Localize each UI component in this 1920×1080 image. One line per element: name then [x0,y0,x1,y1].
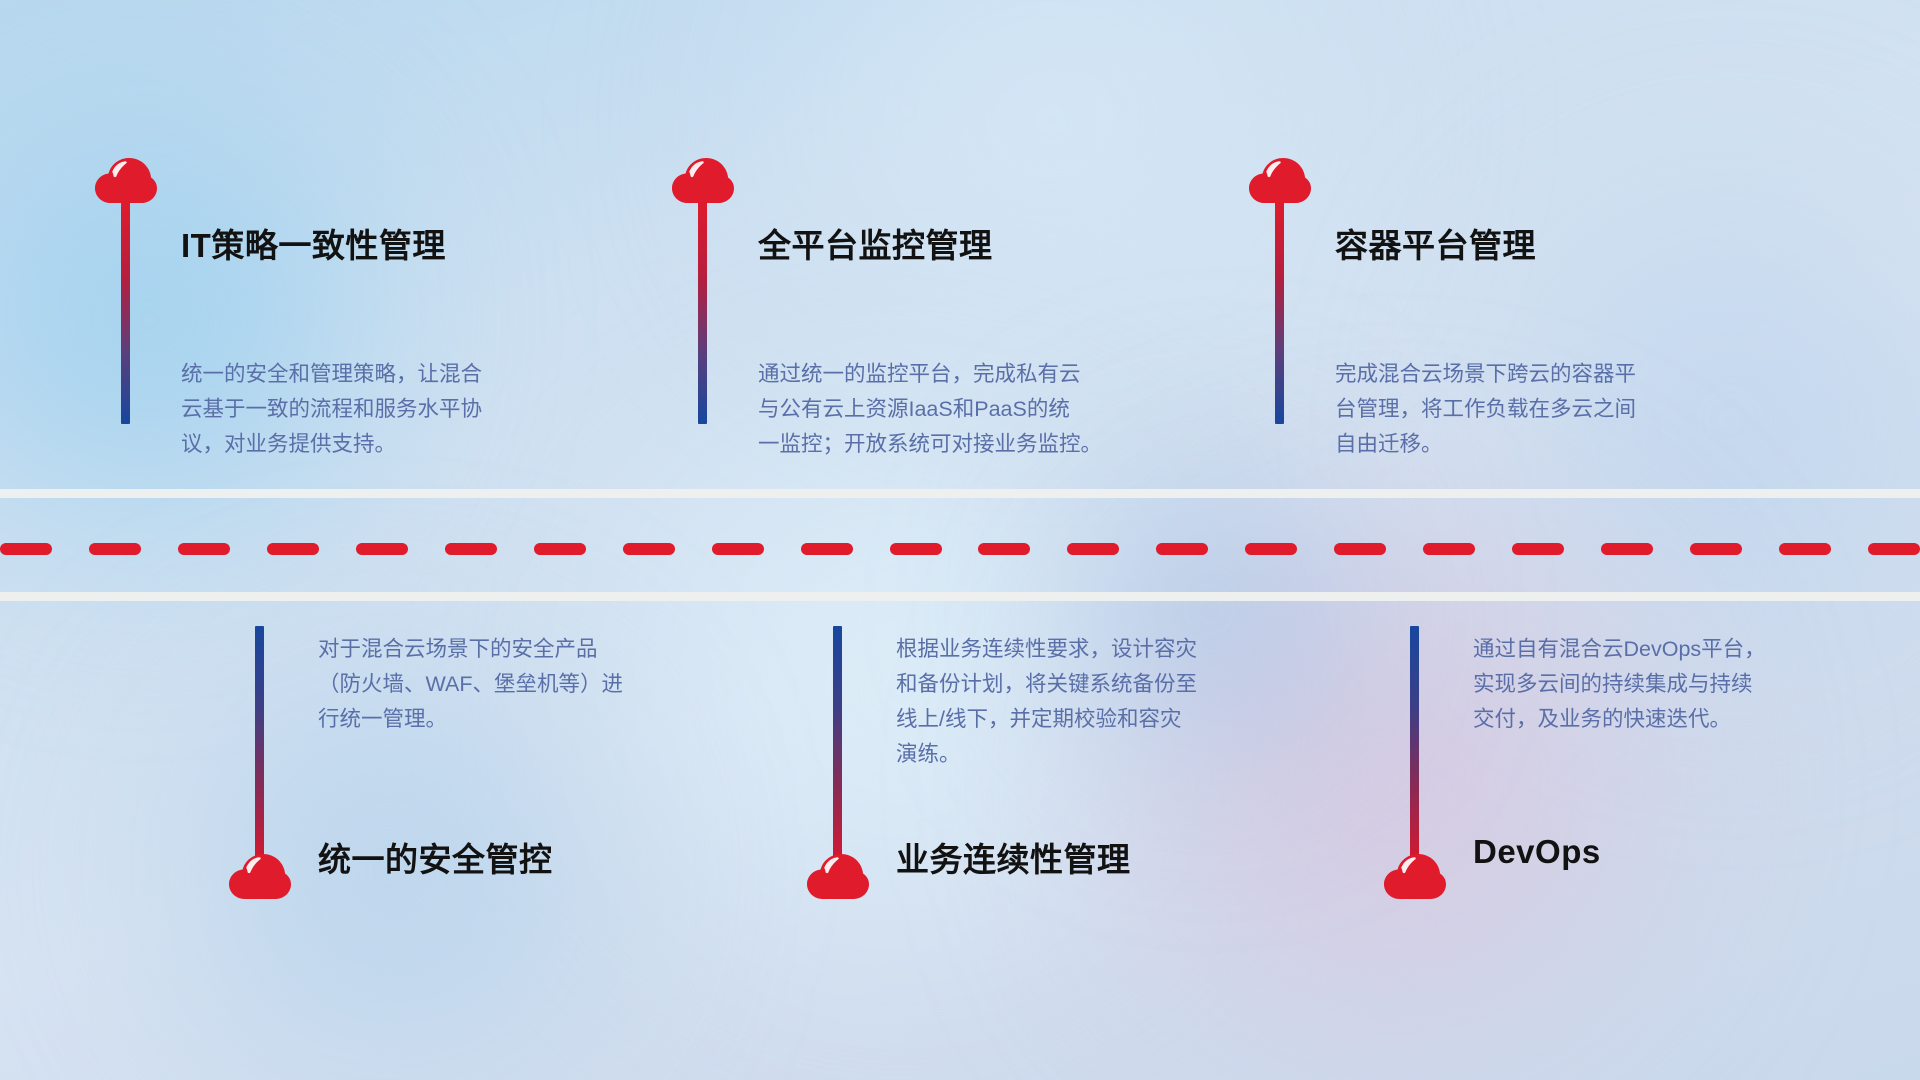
dash-segment [0,543,52,555]
dash-segment [623,543,675,555]
dash-segment [1067,543,1119,555]
divider-line-top [0,489,1920,498]
cloud-icon [672,158,734,204]
pin-stem [1275,200,1284,424]
dash-segment [978,543,1030,555]
infographic-canvas: IT策略一致性管理 统一的安全和管理策略，让混合 云基于一致的流程和服务水平协 … [0,0,1920,1080]
dash-segment [445,543,497,555]
pin-stem [698,200,707,424]
dashed-separator [0,543,1920,555]
cloud-pin-top-2 [672,158,734,204]
cloud-pin-top-1 [95,158,157,204]
dash-segment [1245,543,1297,555]
dash-segment [178,543,230,555]
top-body-2: 通过统一的监控平台，完成私有云 与公有云上资源IaaS和PaaS的统 一监控；开… [758,357,1208,462]
background-gradient [0,0,1920,1080]
bottom-title-2: 业务连续性管理 [896,833,1131,881]
cloud-icon [229,854,291,900]
pin-stem [255,626,264,858]
dash-segment [1334,543,1386,555]
dash-segment [267,543,319,555]
dash-segment [1779,543,1831,555]
cloud-icon [1249,158,1311,204]
dash-segment [356,543,408,555]
cloud-icon [807,854,869,900]
dash-segment [1423,543,1475,555]
top-body-3: 完成混合云场景下跨云的容器平 台管理，将工作负载在多云之间 自由迁移。 [1335,357,1775,462]
dash-segment [1156,543,1208,555]
dash-segment [801,543,853,555]
bottom-title-3: DevOps [1473,833,1601,871]
pin-stem [1410,626,1419,858]
dash-segment [89,543,141,555]
bottom-body-3: 通过自有混合云DevOps平台， 实现多云间的持续集成与持续 交付，及业务的快速… [1473,632,1903,737]
cloud-icon [1384,854,1446,900]
cloud-icon [95,158,157,204]
bottom-title-1: 统一的安全管控 [318,833,553,881]
dash-segment [890,543,942,555]
dash-segment [1601,543,1653,555]
dash-segment [534,543,586,555]
pin-stem [121,200,130,424]
bottom-body-2: 根据业务连续性要求，设计容灾 和备份计划，将关键系统备份至 线上/线下，并定期校… [896,632,1326,772]
pin-stem [833,626,842,858]
top-title-2: 全平台监控管理 [758,219,993,267]
divider-line-bottom [0,592,1920,601]
top-title-1: IT策略一致性管理 [181,219,446,267]
dash-segment [1690,543,1742,555]
dash-segment [1868,543,1920,555]
bottom-body-1: 对于混合云场景下的安全产品 （防火墙、WAF、堡垒机等）进 行统一管理。 [318,632,748,737]
dash-segment [1512,543,1564,555]
top-body-1: 统一的安全和管理策略，让混合 云基于一致的流程和服务水平协 议，对业务提供支持。 [181,357,611,462]
dash-segment [712,543,764,555]
cloud-pin-top-3 [1249,158,1311,204]
top-title-3: 容器平台管理 [1335,219,1536,267]
